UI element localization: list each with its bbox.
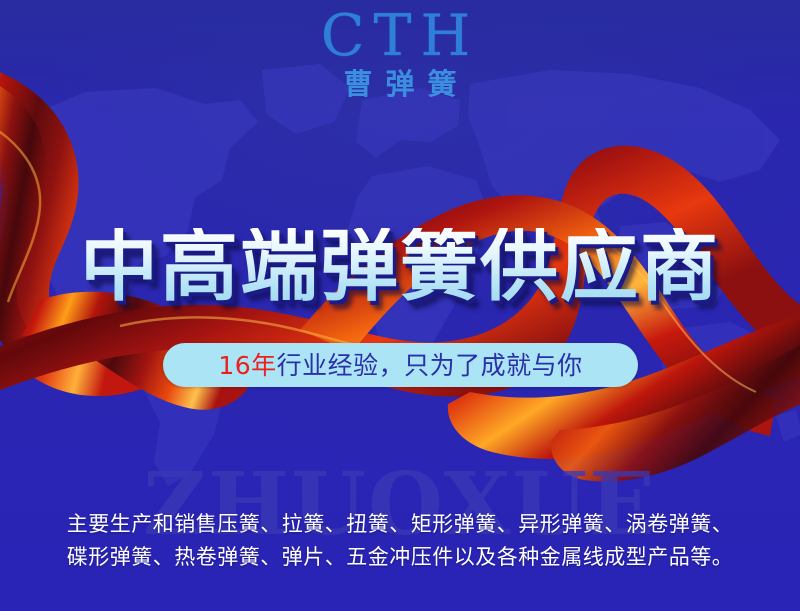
product-description: 主要生产和销售压簧、拉簧、扭簧、矩形弹簧、异形弹簧、涡卷弹簧、 碟形弹簧、热卷弹… — [0, 508, 800, 574]
tagline-years: 16年 — [218, 351, 276, 380]
description-line-2: 碟形弹簧、热卷弹簧、弹片、五金冲压件以及各种金属线成型产品等。 — [0, 541, 800, 574]
tagline-rest: 行业经验，只为了成就与你 — [277, 351, 583, 380]
description-line-1: 主要生产和销售压簧、拉簧、扭簧、矩形弹簧、异形弹簧、涡卷弹簧、 — [0, 508, 800, 541]
promo-banner: ZHUOXUE CTH 曹弹簧 中高端弹簧供应商 16年行业经验，只为了成就与你… — [0, 0, 800, 611]
tagline-pill: 16年行业经验，只为了成就与你 — [163, 343, 638, 387]
tagline-text: 16年行业经验，只为了成就与你 — [218, 353, 582, 378]
headline: 中高端弹簧供应商 — [0, 228, 800, 306]
